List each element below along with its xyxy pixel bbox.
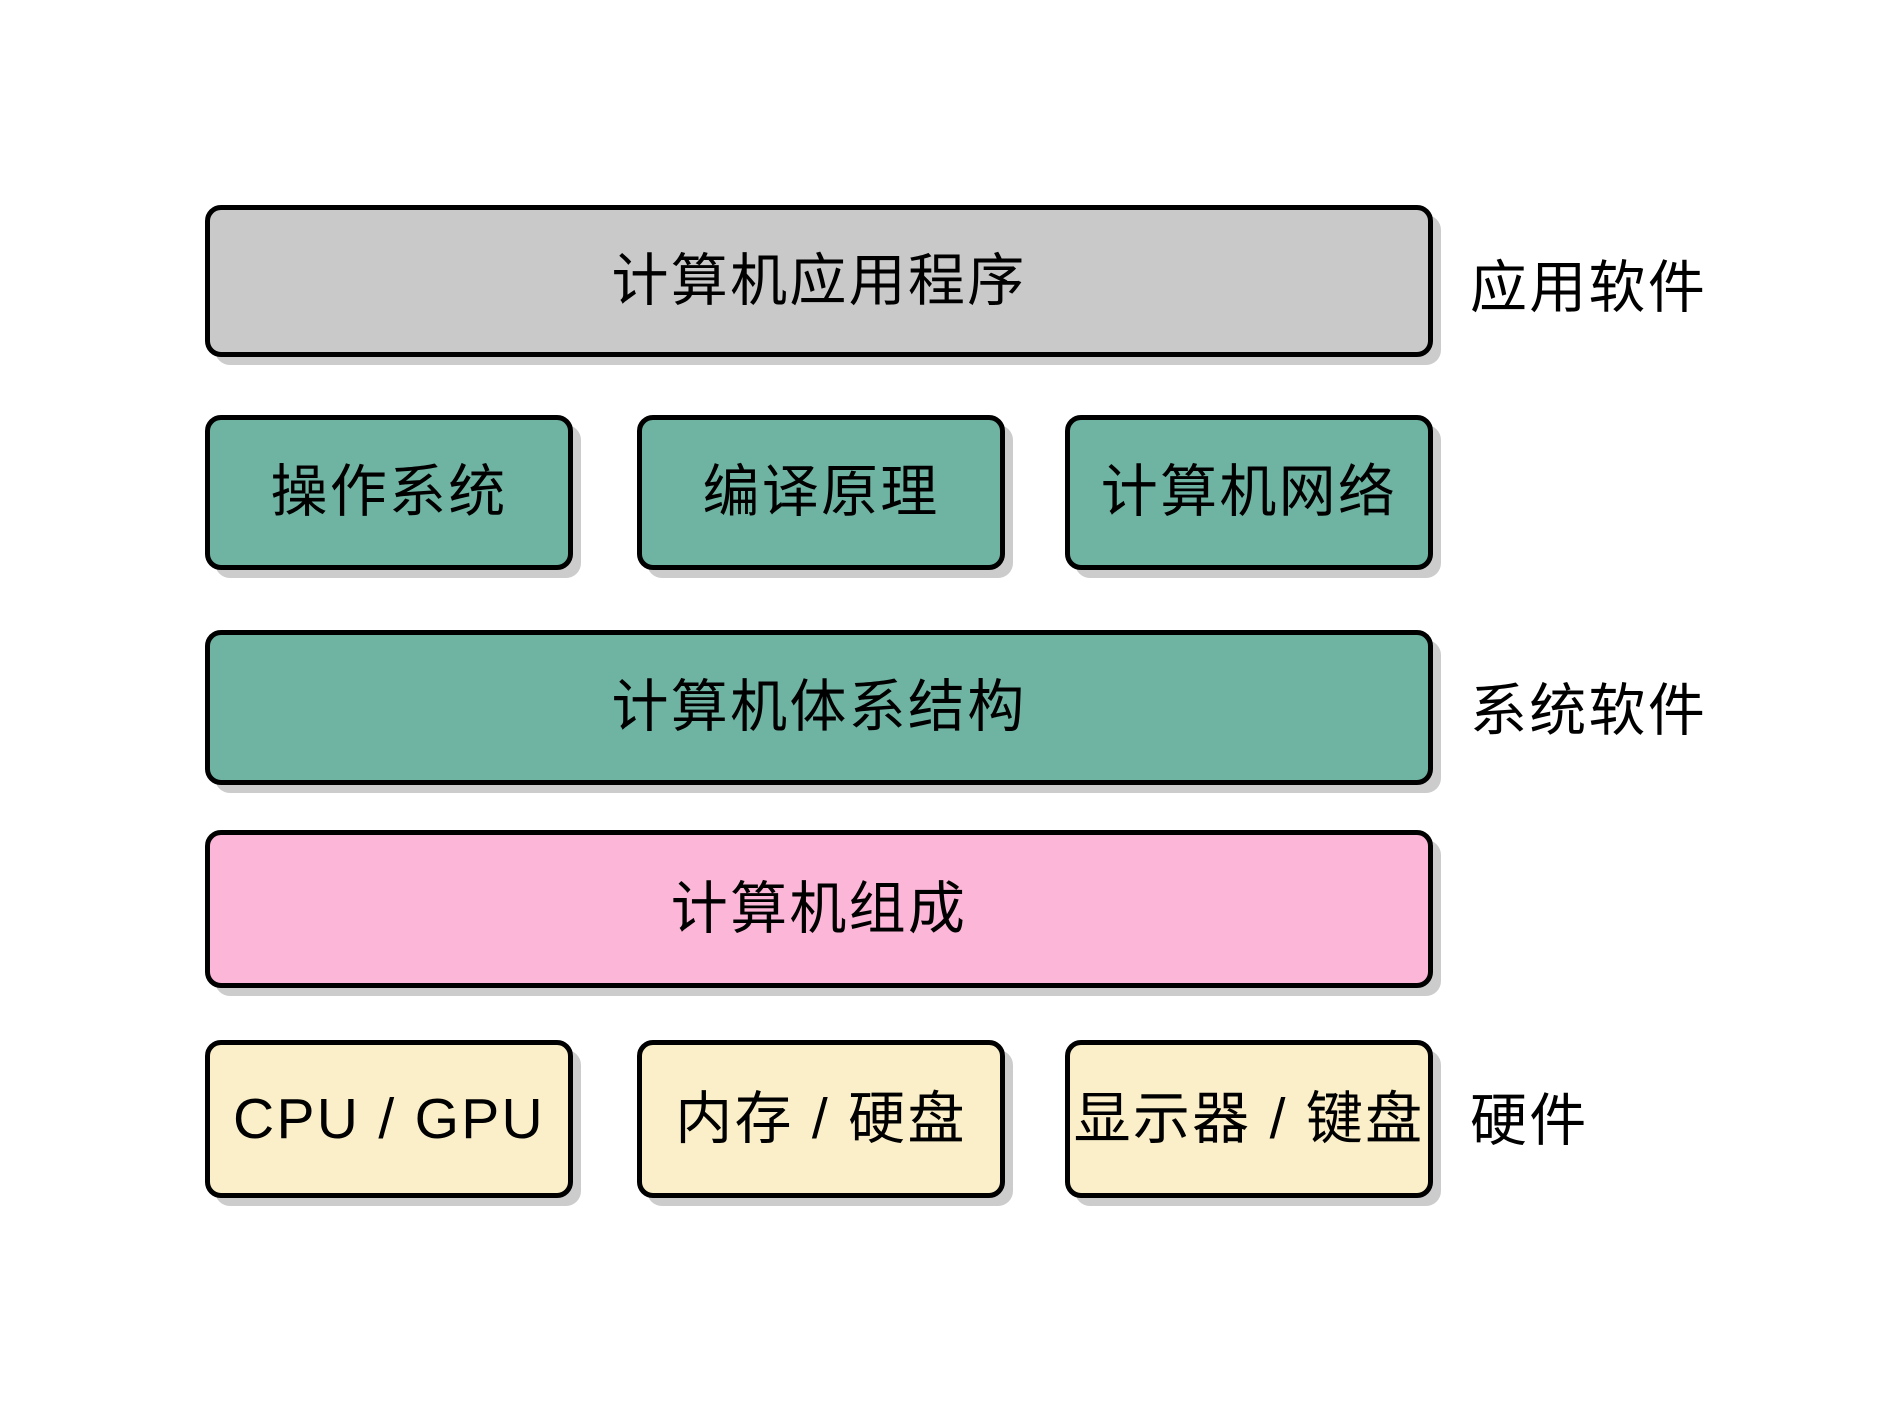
box-label: 计算机体系结构: [612, 679, 1027, 736]
side-label-system-software: 系统软件: [1470, 683, 1707, 740]
box-computer-networks: 计算机网络: [1065, 415, 1433, 570]
box-label: 显示器 / 键盘: [1074, 1091, 1425, 1148]
box-compiler-principles: 编译原理: [637, 415, 1005, 570]
box-memory-disk: 内存 / 硬盘: [637, 1040, 1005, 1198]
box-computer-architecture: 计算机体系结构: [205, 630, 1433, 785]
side-label-hardware: 硬件: [1470, 1093, 1589, 1150]
box-label: 计算机组成: [671, 881, 967, 938]
diagram-canvas: 计算机应用程序 应用软件 操作系统 编译原理 计算机网络 计算机体系结构 系统软…: [0, 0, 1879, 1405]
box-label: 操作系统: [270, 464, 507, 521]
box-label: 计算机网络: [1101, 464, 1397, 521]
box-operating-system: 操作系统: [205, 415, 573, 570]
box-cpu-gpu: CPU / GPU: [205, 1040, 573, 1198]
box-monitor-keyboard: 显示器 / 键盘: [1065, 1040, 1433, 1198]
box-label: 内存 / 硬盘: [675, 1091, 966, 1148]
box-label: 编译原理: [702, 464, 939, 521]
box-label: 计算机应用程序: [612, 253, 1027, 310]
box-label: CPU / GPU: [233, 1091, 545, 1148]
box-computer-application-program: 计算机应用程序: [205, 205, 1433, 357]
side-label-application-software: 应用软件: [1470, 260, 1707, 317]
box-computer-organization: 计算机组成: [205, 830, 1433, 988]
